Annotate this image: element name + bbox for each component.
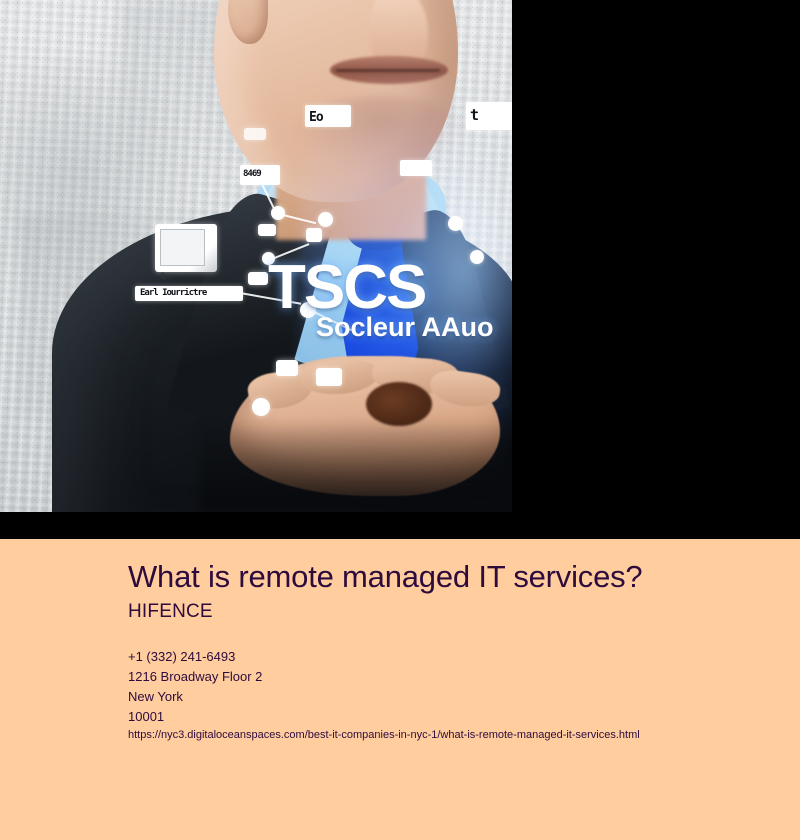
monitor-caption: Qs: [160, 272, 200, 282]
node-chip-icon: [306, 228, 322, 242]
page-root: Earl Iourrictre Qs 8469 Eo t: [0, 0, 800, 840]
monitor-icon: [155, 224, 217, 272]
lower-shadow: [200, 420, 512, 512]
tag-chip-text: 8469: [243, 169, 279, 179]
page-title: What is remote managed IT services?: [128, 559, 642, 595]
node-chip-icon: [248, 272, 268, 285]
small-chip-icon: [400, 160, 432, 176]
node-dot-icon: [448, 216, 463, 231]
contact-info-list: +1 (332) 241-6493 1216 Broadway Floor 2 …: [128, 647, 262, 727]
brand-name: HIFENCE: [128, 601, 213, 623]
node-chip-icon: [316, 368, 342, 386]
node-dot-icon: [252, 398, 270, 416]
node-chip-icon: [244, 128, 266, 140]
source-url-link[interactable]: https://nyc3.digitaloceanspaces.com/best…: [128, 729, 640, 741]
contact-city: New York: [128, 687, 262, 707]
corner-chip-text: t: [470, 106, 512, 124]
node-dot-icon: [470, 250, 484, 264]
contact-street: 1216 Broadway Floor 2: [128, 667, 262, 687]
label-chip-text: Earl Iourrictre: [140, 288, 238, 298]
content-area: What is remote managed IT services? HIFE…: [0, 539, 800, 840]
hero-photo: Earl Iourrictre Qs 8469 Eo t: [0, 0, 512, 512]
badge-chip-text: Eo: [309, 110, 351, 125]
node-chip-icon: [258, 224, 276, 236]
hero-band: Earl Iourrictre Qs 8469 Eo t: [0, 0, 800, 539]
contact-phone: +1 (332) 241-6493: [128, 647, 262, 667]
contact-zip: 10001: [128, 707, 262, 727]
hero-overlay-subline: Socleur AAuo: [316, 312, 494, 343]
node-chip-icon: [276, 360, 298, 376]
node-dot-icon: [318, 212, 333, 227]
